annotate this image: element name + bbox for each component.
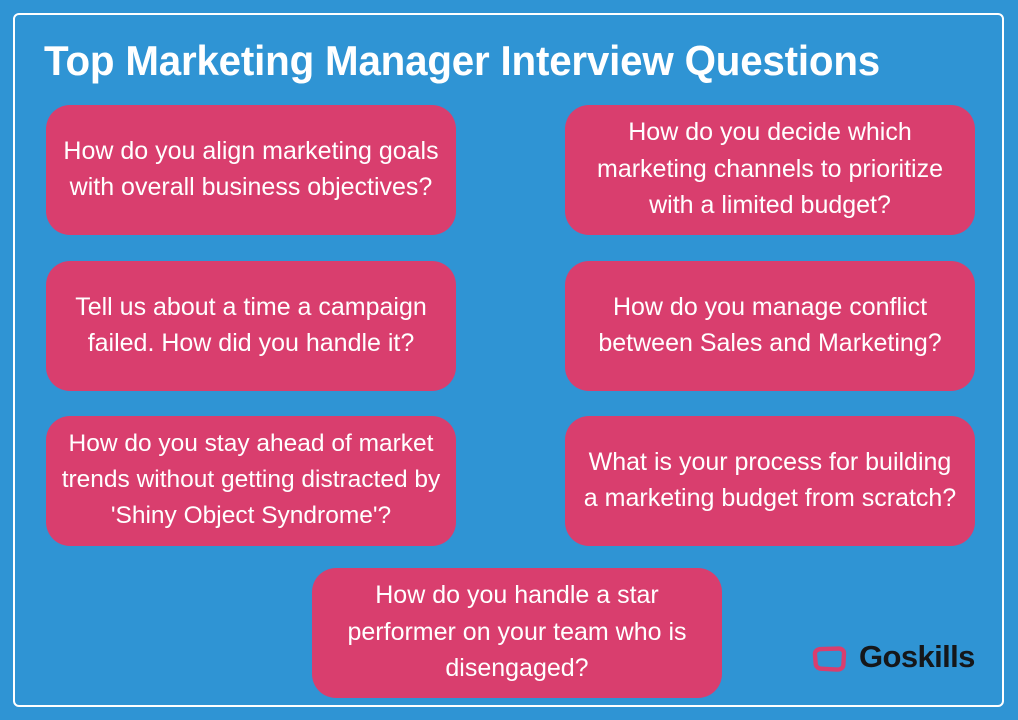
question-card-market-trends[interactable]: How do you stay ahead of market trends w… — [46, 416, 456, 546]
question-card-text: How do you decide which marketing channe… — [581, 114, 959, 224]
question-card-manage-conflict[interactable]: How do you manage conflict between Sales… — [565, 261, 975, 391]
question-card-text: How do you align marketing goals with ov… — [62, 133, 440, 206]
question-card-star-performer[interactable]: How do you handle a star performer on yo… — [312, 568, 722, 698]
question-card-campaign-failed[interactable]: Tell us about a time a campaign failed. … — [46, 261, 456, 391]
page-title: Top Marketing Manager Interview Question… — [44, 33, 946, 91]
question-card-text: How do you handle a star performer on yo… — [328, 577, 706, 687]
question-card-text: What is your process for building a mark… — [581, 444, 959, 517]
goskills-triangle-play-icon — [812, 638, 850, 676]
question-card-text: How do you stay ahead of market trends w… — [56, 426, 446, 534]
infographic-canvas: Top Marketing Manager Interview Question… — [0, 0, 1018, 720]
question-card-decide-channels[interactable]: How do you decide which marketing channe… — [565, 105, 975, 235]
question-card-text: How do you manage conflict between Sales… — [581, 289, 959, 362]
question-card-text: Tell us about a time a campaign failed. … — [62, 289, 440, 362]
question-card-align-goals[interactable]: How do you align marketing goals with ov… — [46, 105, 456, 235]
goskills-wordmark: Goskills — [859, 638, 975, 676]
question-card-building-budget[interactable]: What is your process for building a mark… — [565, 416, 975, 546]
goskills-logo[interactable]: Goskills — [812, 636, 960, 678]
